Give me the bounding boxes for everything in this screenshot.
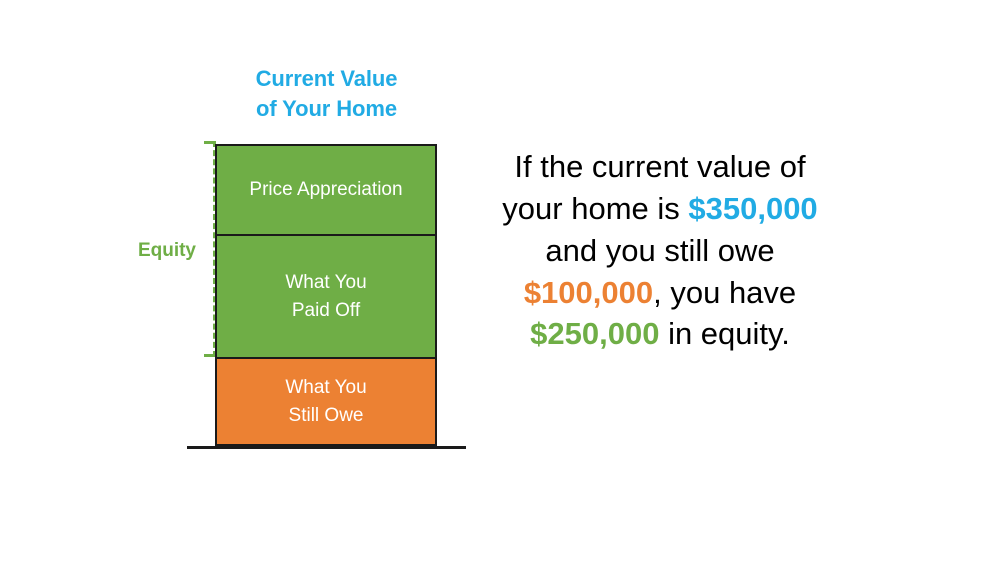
bar-segment-label: Price Appreciation (249, 176, 402, 204)
caption-amount-equity: $250,000 (530, 316, 659, 351)
caption-amount-current-value: $350,000 (688, 191, 817, 226)
equity-chart: Current Value of Your Home Equity Price … (0, 0, 500, 563)
caption-part-2: and you still owe (545, 233, 774, 268)
caption-part-4: in equity. (659, 316, 789, 351)
bar-segment-label-line-1: What You (285, 374, 366, 402)
equity-bracket-tick-top (204, 141, 215, 144)
bar-segment-what-you-paid-off: What You Paid Off (215, 234, 437, 359)
caption-part-3: , you have (653, 275, 796, 310)
stacked-bar: Price Appreciation What You Paid Off Wha… (215, 144, 437, 446)
chart-baseline (187, 446, 466, 449)
equity-bracket-tick-bottom (204, 354, 215, 357)
bar-segment-label: What You Paid Off (285, 269, 366, 324)
chart-title: Current Value of Your Home (215, 64, 438, 123)
bar-segment-label: What You Still Owe (285, 374, 366, 429)
chart-title-line-2: of Your Home (215, 94, 438, 124)
equity-label: Equity (126, 240, 196, 262)
caption-amount-still-owe: $100,000 (524, 275, 653, 310)
bar-segment-price-appreciation: Price Appreciation (215, 144, 437, 236)
chart-title-line-1: Current Value (215, 64, 438, 94)
bar-segment-label-line-2: Still Owe (285, 402, 366, 430)
equity-bracket (198, 141, 216, 357)
bar-segment-label-line-1: What You (285, 269, 366, 297)
caption-text: If the current value of your home is $35… (495, 146, 825, 355)
bar-segment-what-you-still-owe: What You Still Owe (215, 357, 437, 446)
bar-segment-label-line-2: Paid Off (285, 297, 366, 325)
